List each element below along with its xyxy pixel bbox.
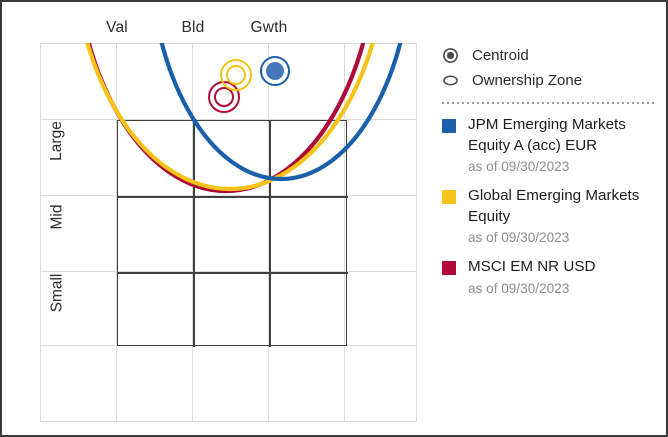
legend-entry-asof: as of 09/30/2023 bbox=[468, 157, 658, 177]
column-header-val: Val bbox=[78, 19, 156, 37]
chart-legend: Centroid Ownership Zone JPM Emerging Mar… bbox=[442, 43, 658, 308]
legend-entry-text: Global Emerging Markets Equity as of 09/… bbox=[456, 186, 658, 248]
legend-entry-text: JPM Emerging Markets Equity A (acc) EUR … bbox=[456, 115, 658, 177]
legend-swatch-crimson bbox=[442, 261, 456, 275]
legend-marker-label-centroid: Centroid bbox=[468, 47, 529, 64]
plot-area bbox=[40, 43, 417, 422]
legend-entry-asof: as of 09/30/2023 bbox=[468, 279, 658, 299]
style-box-chart-frame: Val Bld Gwth Large Mid Small bbox=[0, 0, 668, 437]
centroid-marker-yellow[interactable] bbox=[220, 59, 252, 91]
legend-marker-item-ownership-zone: Ownership Zone bbox=[442, 68, 658, 93]
legend-marker-label-ownership-zone: Ownership Zone bbox=[468, 72, 582, 89]
legend-entry-fund[interactable]: JPM Emerging Markets Equity A (acc) EUR … bbox=[442, 115, 658, 177]
legend-entry-text: MSCI EM NR USD as of 09/30/2023 bbox=[456, 257, 658, 299]
legend-divider bbox=[442, 102, 655, 104]
legend-entry-name: MSCI EM NR USD bbox=[468, 257, 658, 278]
legend-entry-category[interactable]: Global Emerging Markets Equity as of 09/… bbox=[442, 186, 658, 248]
legend-entry-index[interactable]: MSCI EM NR USD as of 09/30/2023 bbox=[442, 257, 658, 299]
legend-marker-item-centroid: Centroid bbox=[442, 43, 658, 68]
legend-swatch-yellow bbox=[442, 190, 456, 204]
centroid-marker-blue[interactable] bbox=[260, 56, 290, 86]
column-header-bld: Bld bbox=[154, 19, 232, 37]
ownership-zone-icon bbox=[442, 72, 468, 89]
centroid-icon bbox=[442, 47, 468, 64]
centroid-core-dot bbox=[266, 62, 284, 80]
chart-region: Val Bld Gwth Large Mid Small bbox=[2, 2, 430, 435]
legend-entry-asof: as of 09/30/2023 bbox=[468, 228, 658, 248]
legend-entry-name: JPM Emerging Markets Equity A (acc) EUR bbox=[468, 115, 658, 156]
column-header-gwth: Gwth bbox=[230, 19, 308, 37]
centroid-inner-ring bbox=[226, 65, 246, 85]
legend-swatch-blue bbox=[442, 119, 456, 133]
legend-entry-name: Global Emerging Markets Equity bbox=[468, 186, 658, 227]
